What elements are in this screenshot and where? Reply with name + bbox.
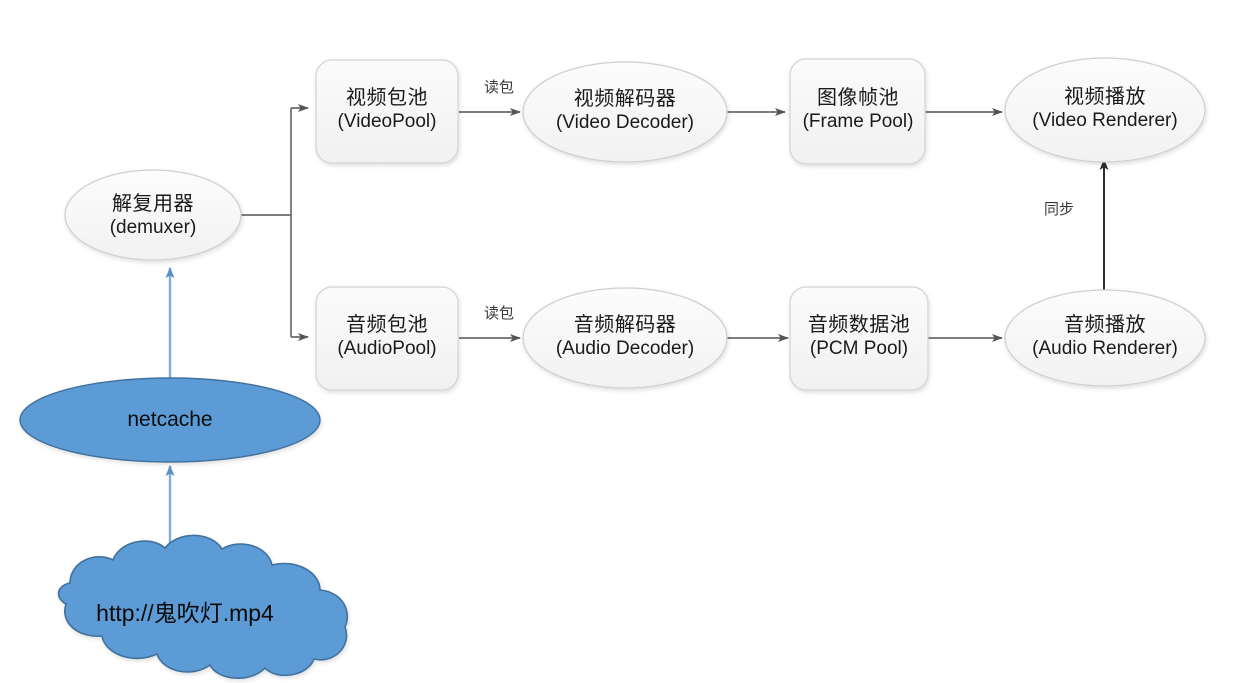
node-audio-pool[interactable]	[316, 287, 458, 390]
node-audio-renderer[interactable]	[1005, 290, 1205, 386]
node-frame-pool[interactable]	[790, 59, 925, 164]
diagram-canvas: 解复用器 (demuxer) 视频包池 (VideoPool) 视频解码器 (V…	[0, 0, 1240, 683]
node-source-cloud-label: http://鬼吹灯.mp4	[45, 594, 325, 628]
node-layer	[20, 58, 1205, 678]
node-video-decoder[interactable]	[523, 62, 727, 162]
edge-label-read-packet-video: 读包	[484, 76, 514, 97]
node-video-pool[interactable]	[316, 60, 458, 163]
node-video-renderer[interactable]	[1005, 58, 1205, 162]
node-pcm-pool[interactable]	[790, 287, 928, 390]
node-netcache-label: netcache	[70, 408, 270, 432]
node-demuxer[interactable]	[65, 170, 241, 260]
node-audio-decoder[interactable]	[523, 288, 727, 388]
edge-demuxer-branch	[241, 108, 308, 337]
diagram-svg	[0, 0, 1240, 683]
edge-label-read-packet-audio: 读包	[484, 302, 514, 323]
edge-label-sync: 同步	[1044, 198, 1074, 219]
